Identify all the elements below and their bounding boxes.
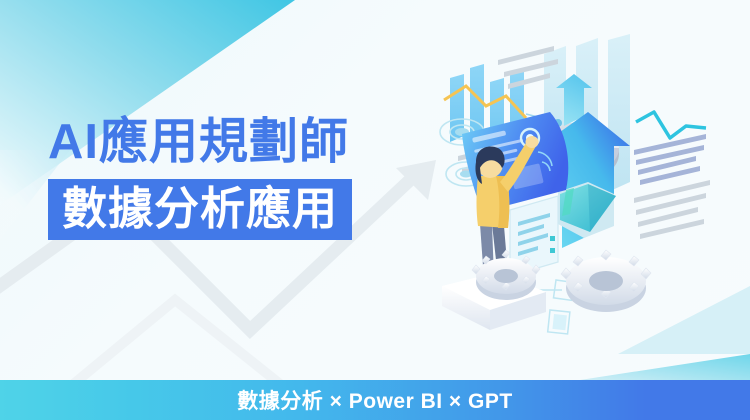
course-banner: AI應用規劃師 數據分析應用 數據分析 × Power BI × GPT: [0, 0, 750, 420]
footer-bar: 數據分析 × Power BI × GPT: [0, 380, 750, 420]
footer-text: 數據分析 × Power BI × GPT: [237, 385, 512, 415]
line-chart-zigzag: [636, 112, 706, 138]
text-lines-right: [634, 134, 710, 239]
gear-large-icon: [561, 250, 651, 312]
hand: [526, 136, 539, 148]
subtitle-badge: 數據分析應用: [48, 179, 352, 240]
node-fill: [552, 314, 566, 330]
headline-group: AI應用規劃師 數據分析應用: [48, 118, 448, 240]
bottom-right-diagonal-stripe: [580, 354, 750, 380]
page-title: AI應用規劃師: [48, 118, 448, 167]
isometric-analytics-illustration: [438, 34, 750, 354]
